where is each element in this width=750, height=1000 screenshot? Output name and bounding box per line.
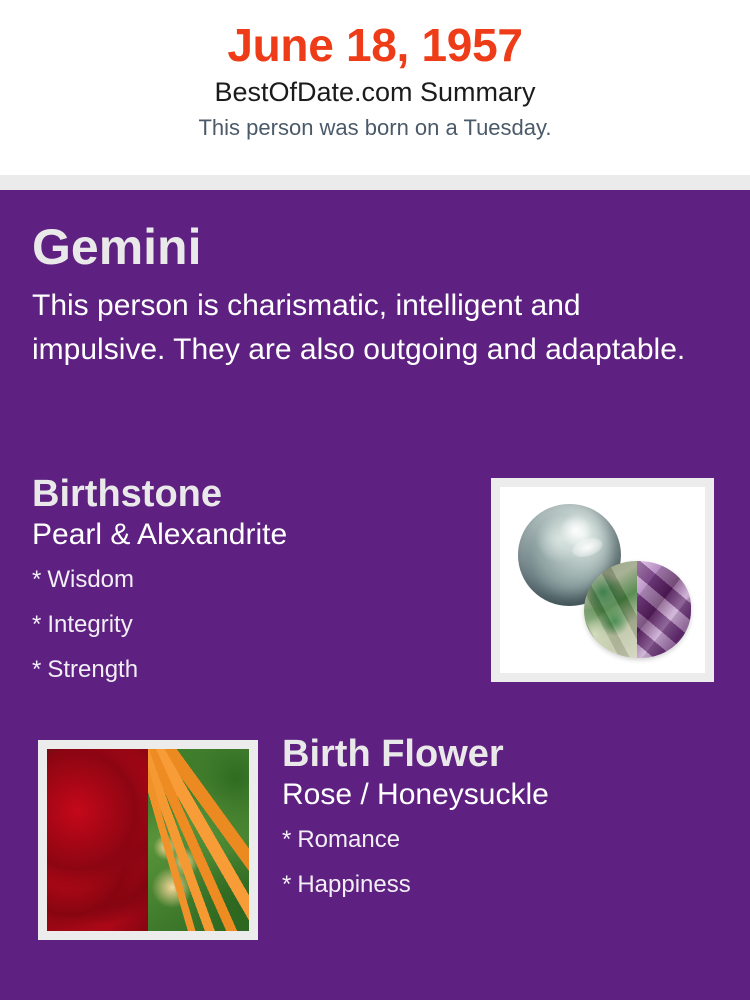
red-roses-photo-half [47, 749, 148, 931]
list-item: *Romance [282, 817, 732, 862]
birthstone-trait-label: Wisdom [47, 566, 134, 593]
list-item: *Happiness [282, 862, 732, 907]
list-item: *Wisdom [32, 557, 462, 602]
main-content: Gemini This person is charismatic, intel… [0, 190, 750, 1000]
header: June 18, 1957 BestOfDate.com Summary Thi… [0, 0, 750, 175]
birthstone-section: Birthstone Pearl & Alexandrite *Wisdom *… [32, 475, 462, 692]
zodiac-section: Gemini This person is charismatic, intel… [32, 222, 702, 372]
alexandrite-faceted-half [637, 561, 690, 658]
birth-flower-title: Birth Flower [282, 735, 732, 773]
birth-flower-section: Birth Flower Rose / Honeysuckle *Romance… [282, 735, 732, 907]
zodiac-sign-name: Gemini [32, 222, 702, 272]
birth-flower-value: Rose / Honeysuckle [282, 773, 732, 811]
orange-honeysuckle-photo-half [148, 749, 249, 931]
birthstone-trait-label: Strength [47, 656, 138, 683]
header-divider [0, 175, 750, 190]
bullet-star-icon: * [282, 826, 297, 853]
birth-flower-image [47, 749, 249, 931]
zodiac-description: This person is charismatic, intelligent … [32, 272, 692, 372]
summary-card: June 18, 1957 BestOfDate.com Summary Thi… [0, 0, 750, 1000]
list-item: *Strength [32, 647, 462, 692]
list-item: *Integrity [32, 602, 462, 647]
birth-flower-image-frame [38, 740, 258, 940]
birth-day-of-week-text: This person was born on a Tuesday. [0, 108, 750, 140]
bullet-star-icon: * [282, 871, 297, 898]
birthstone-trait-list: *Wisdom *Integrity *Strength [32, 551, 462, 692]
alexandrite-gem-graphic [584, 561, 691, 658]
birth-flower-trait-label: Romance [297, 826, 400, 853]
birth-flower-trait-list: *Romance *Happiness [282, 811, 732, 907]
bullet-star-icon: * [32, 656, 47, 683]
birthstone-trait-label: Integrity [47, 611, 132, 638]
page-title-date: June 18, 1957 [0, 0, 750, 69]
birthstone-title: Birthstone [32, 475, 462, 513]
birth-flower-trait-label: Happiness [297, 871, 410, 898]
birthstone-image [500, 487, 705, 673]
bullet-star-icon: * [32, 566, 47, 593]
birthstone-value: Pearl & Alexandrite [32, 513, 462, 551]
bullet-star-icon: * [32, 611, 47, 638]
site-name: BestOfDate.com Summary [0, 69, 750, 108]
alexandrite-rough-half [584, 561, 637, 658]
birthstone-image-frame [491, 478, 714, 682]
